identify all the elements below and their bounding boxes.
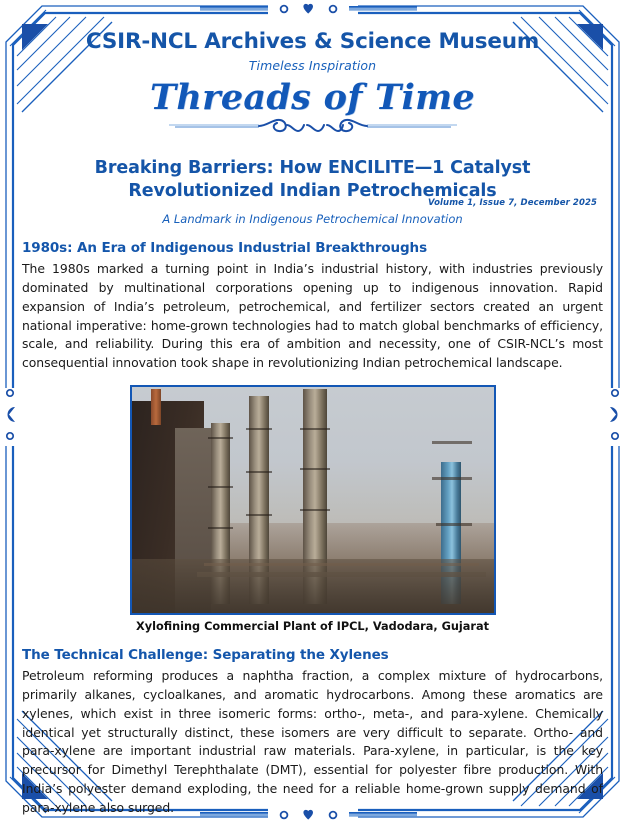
top-center-ornament bbox=[200, 4, 417, 14]
masthead-tagline: Timeless Inspiration bbox=[22, 58, 603, 73]
photo-platform-deck bbox=[432, 441, 472, 444]
side-circle-right-top bbox=[612, 390, 618, 396]
ornament-circle-left bbox=[281, 6, 288, 13]
photo-platform-deck bbox=[432, 477, 472, 480]
photo-ground-plant-level bbox=[132, 559, 494, 613]
organization-name: CSIR-NCL Archives & Science Museum bbox=[22, 30, 603, 55]
photo-column-ring bbox=[246, 471, 272, 473]
article-figure: Xylofining Commercial Plant of IPCL, Vad… bbox=[130, 385, 496, 633]
ornament-circle-right bbox=[330, 6, 337, 13]
photo-column-ring bbox=[208, 486, 233, 488]
newsletter-page: CSIR-NCL Archives & Science Museum Timel… bbox=[0, 0, 625, 823]
photo-column-ring bbox=[208, 437, 233, 439]
photo-column-ring bbox=[246, 428, 272, 430]
section-heading-1: 1980s: An Era of Indigenous Industrial B… bbox=[22, 240, 603, 256]
heart-icon-top bbox=[303, 4, 313, 14]
side-circle-left-top bbox=[7, 390, 13, 396]
issue-line: Volume 1, Issue 7, December 2025 bbox=[428, 198, 597, 208]
side-circle-right-bottom bbox=[612, 433, 618, 439]
photo-chimney-stack bbox=[151, 389, 160, 425]
photo-column-ring bbox=[208, 527, 233, 529]
right-arrow-icon bbox=[610, 407, 618, 422]
section-body-1: The 1980s marked a turning point in Indi… bbox=[22, 260, 603, 373]
article-subtitle: A Landmark in Indigenous Petrochemical I… bbox=[22, 212, 603, 226]
photo-column-ring bbox=[246, 514, 272, 516]
plant-photograph bbox=[132, 387, 494, 613]
photo-column-ring bbox=[300, 468, 330, 470]
newsletter-wordmark: Threads of Time bbox=[22, 80, 603, 115]
photo-column-ring bbox=[300, 509, 330, 511]
photo-platform-deck bbox=[436, 523, 472, 526]
right-side-ornament bbox=[610, 390, 618, 439]
section-heading-2: The Technical Challenge: Separating the … bbox=[22, 647, 603, 663]
figure-photo-frame bbox=[130, 385, 496, 615]
page-content: CSIR-NCL Archives & Science Museum Timel… bbox=[14, 14, 611, 809]
photo-column-ring bbox=[300, 428, 330, 430]
ornament-bar-left bbox=[200, 8, 268, 11]
figure-caption: Xylofining Commercial Plant of IPCL, Vad… bbox=[130, 620, 496, 633]
side-circle-left-bottom bbox=[7, 433, 13, 439]
wordmark-block: Threads of Time Volume 1, Issue bbox=[22, 80, 603, 136]
masthead: CSIR-NCL Archives & Science Museum Timel… bbox=[22, 30, 603, 136]
section-body-2: Petroleum reforming produces a naphtha f… bbox=[22, 667, 603, 818]
